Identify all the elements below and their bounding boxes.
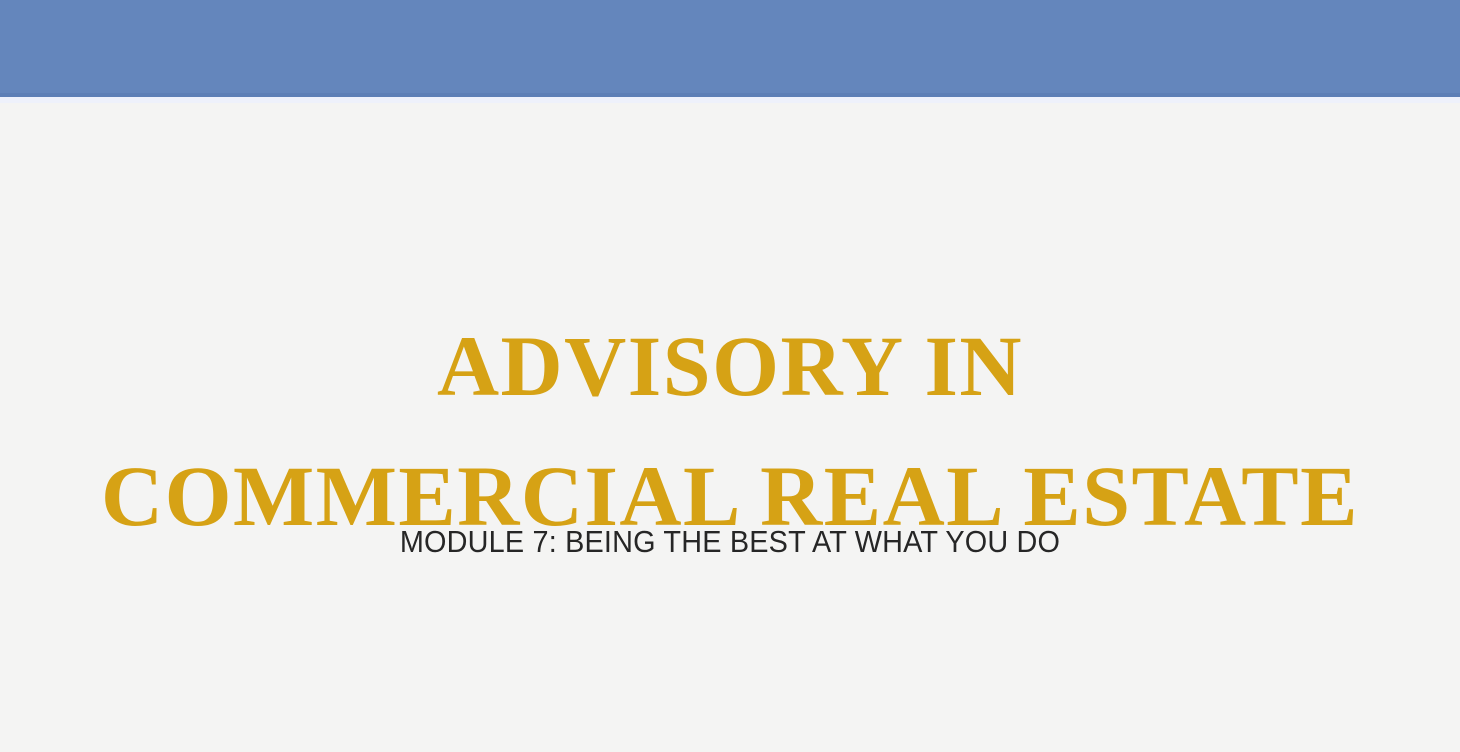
slide-content: ADVISORY IN COMMERCIAL REAL ESTATE MODUL…	[0, 103, 1460, 752]
presentation-slide: ADVISORY IN COMMERCIAL REAL ESTATE MODUL…	[0, 0, 1460, 752]
slide-title-line-1: ADVISORY IN	[0, 301, 1460, 431]
header-accent-band	[0, 0, 1460, 93]
slide-subtitle: MODULE 7: BEING THE BEST AT WHAT YOU DO	[51, 522, 1409, 562]
